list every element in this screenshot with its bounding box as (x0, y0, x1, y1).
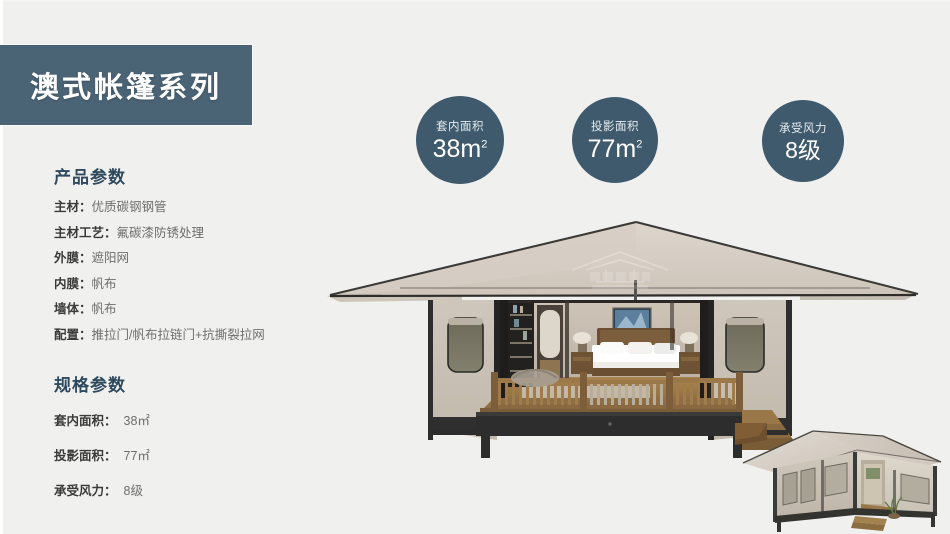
spec-label: 主材工艺： (54, 226, 117, 240)
spec-row-main-material-process: 主材工艺：氟碳漆防锈处理 (54, 227, 354, 240)
spec-value: 77㎡ (117, 449, 150, 463)
spec-label: 配置： (54, 328, 92, 342)
spec-value: 遮阳网 (92, 251, 130, 265)
badge-label: 承受风力 (779, 120, 827, 136)
spec-label: 内膜： (54, 277, 92, 291)
page-title: 澳式帐篷系列 (30, 64, 222, 106)
spec-label: 套内面积： (54, 414, 117, 428)
spec-value: 帆布 (92, 277, 117, 291)
spec-label: 外膜： (54, 251, 92, 265)
badge-label: 套内面积 (436, 118, 484, 134)
spec-row-projected-area: 投影面积：77㎡ (54, 445, 354, 464)
spec-value: 优质碳钢钢管 (92, 200, 167, 214)
spec-label: 主材： (54, 200, 92, 214)
spec-row-outer-membrane: 外膜：遮阳网 (54, 252, 354, 265)
badge-wind-resistance: 承受风力 8级 (762, 100, 844, 182)
spec-parameters-heading: 规格参数 (54, 371, 354, 396)
product-parameters-panel: 产品参数 主材：优质碳钢钢管 主材工艺：氟碳漆防锈处理 外膜：遮阳网 内膜：帆布… (54, 163, 354, 354)
spec-value: 8级 (117, 484, 143, 498)
spec-parameters-panel: 规格参数 套内面积：38㎡ 投影面积：77㎡ 承受风力：8级 (54, 371, 354, 515)
badge-value: 8级 (785, 138, 821, 162)
badge-projected-area: 投影面积 77m2 (572, 97, 658, 183)
spec-row-configuration: 配置：推拉门/帆布拉链门+抗撕裂拉网 (54, 329, 354, 342)
secondary-tent-illustration (735, 418, 950, 534)
badge-interior-area: 套内面积 38m2 (416, 96, 504, 184)
badge-value: 38m2 (433, 136, 488, 162)
spec-label: 承受风力： (54, 484, 117, 498)
spec-row-main-material: 主材：优质碳钢钢管 (54, 201, 354, 214)
badge-value: 77m2 (588, 136, 643, 162)
spec-row-wind-resistance: 承受风力：8级 (54, 480, 354, 499)
spec-row-inner-membrane: 内膜：帆布 (54, 278, 354, 291)
spec-value: 帆布 (92, 302, 117, 316)
badge-label: 投影面积 (591, 118, 639, 134)
product-parameters-heading: 产品参数 (54, 163, 354, 188)
title-banner: 澳式帐篷系列 (0, 45, 252, 125)
brand-watermark (560, 248, 680, 296)
spec-label: 投影面积： (54, 449, 117, 463)
spec-value: 38㎡ (117, 414, 150, 428)
spec-value: 推拉门/帆布拉链门+抗撕裂拉网 (92, 328, 265, 342)
slide-page: 澳式帐篷系列 产品参数 主材：优质碳钢钢管 主材工艺：氟碳漆防锈处理 外膜：遮阳… (0, 0, 950, 534)
spec-row-wall: 墙体：帆布 (54, 303, 354, 316)
top-edge-strip (0, 0, 950, 2)
spec-label: 墙体： (54, 302, 92, 316)
spec-value: 氟碳漆防锈处理 (117, 226, 205, 240)
spec-row-interior-area: 套内面积：38㎡ (54, 410, 354, 429)
